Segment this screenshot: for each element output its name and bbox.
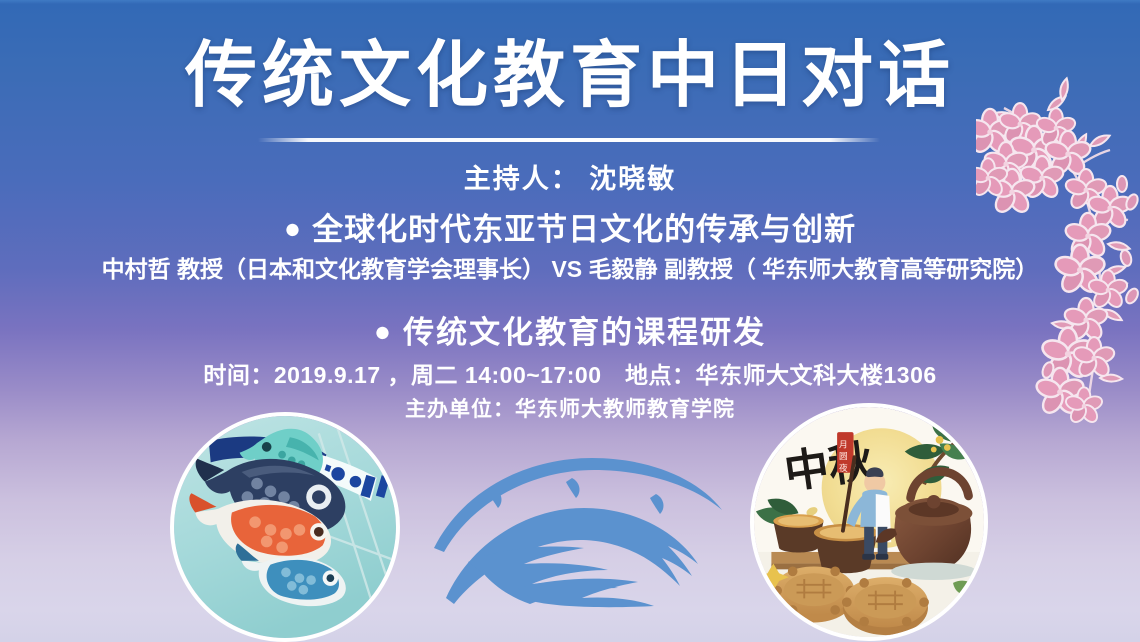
time-and-place-line: 时间：2019.9.17 ，周二 14:00~17:00 地点：华东师大文科大楼… (0, 356, 1140, 390)
mid-autumn-illustration-circle: 中秋 月 圆 夜 (750, 403, 988, 641)
speakers-line: 中村哲 教授（日本和文化教育学会理事长） VS 毛毅静 副教授（ 华东师大教育高… (0, 250, 1140, 284)
topic-2-label: 传统文化教育的课程研发 (403, 315, 766, 350)
koinobori-photo-circle (170, 412, 400, 642)
title-divider (258, 138, 880, 142)
wave-motif-icon (432, 452, 724, 612)
svg-text:月: 月 (839, 440, 848, 450)
bullet-icon: ● (374, 316, 393, 348)
svg-text:夜: 夜 (839, 462, 848, 473)
topic-2-line: ●传统文化教育的课程研发 (0, 307, 1140, 352)
topic-1-line: ●全球化时代东亚节日文化的传承与创新 (0, 204, 1140, 249)
topic-1-label: 全球化时代东亚节日文化的传承与创新 (312, 212, 856, 247)
organizer-line: 主办单位：华东师大教师教育学院 (0, 393, 1140, 423)
poster-canvas: 传统文化教育中日对话 主持人： 沈晓敏 ●全球化时代东亚节日文化的传承与创新 中… (0, 0, 1140, 642)
bullet-icon: ● (284, 213, 302, 245)
svg-text:圆: 圆 (839, 451, 848, 461)
poster-title: 传统文化教育中日对话 (0, 34, 1140, 118)
host-line: 主持人： 沈晓敏 (0, 157, 1140, 196)
